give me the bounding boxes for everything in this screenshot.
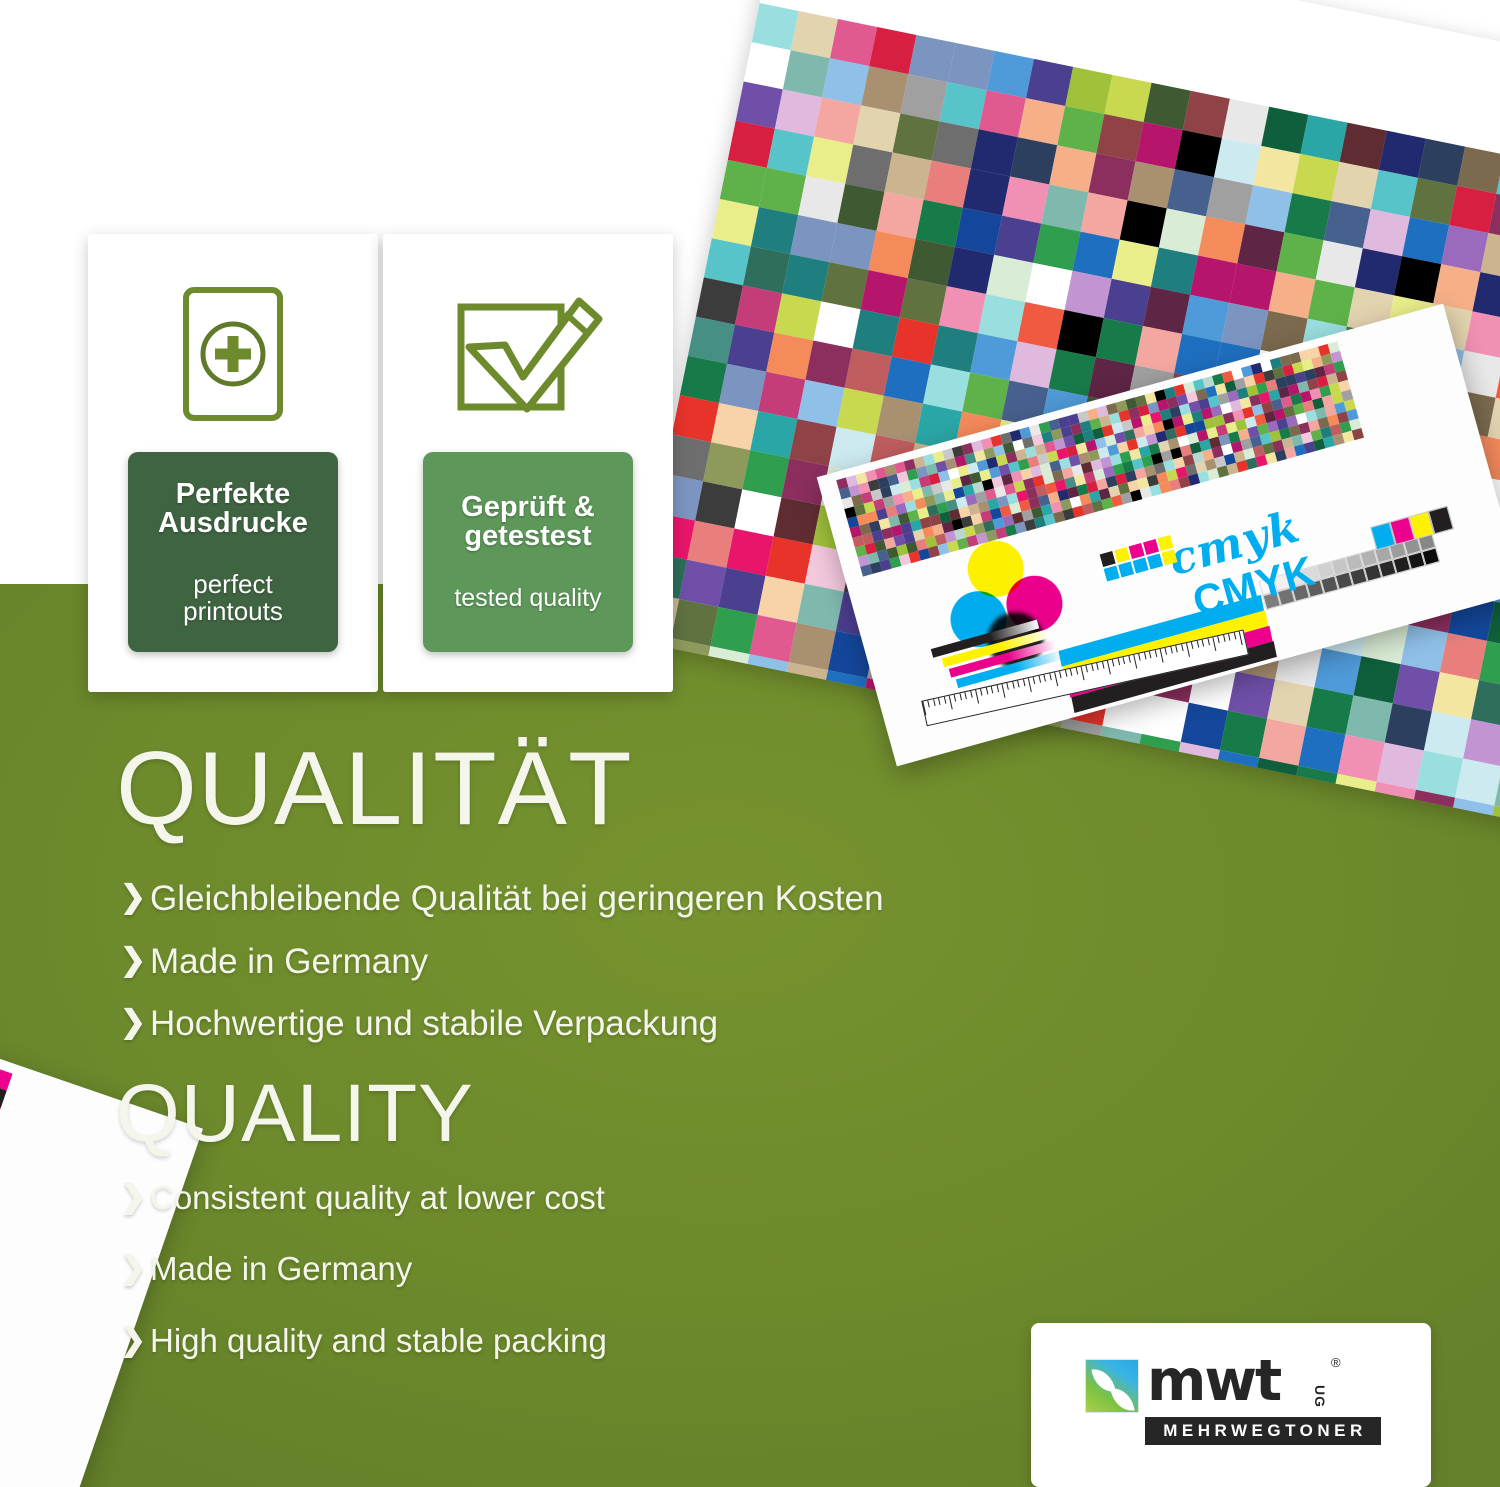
ruler-tick	[1170, 647, 1172, 654]
ruler-tick	[1028, 678, 1032, 692]
ruler-tick	[1128, 656, 1130, 663]
ruler-tick	[1054, 672, 1058, 686]
ruler-tick	[1044, 675, 1046, 682]
registration-patches	[1100, 535, 1178, 581]
chevron-right-icon: ❯	[120, 1251, 150, 1285]
card-1-sub-line2: printouts	[183, 596, 283, 626]
color-swatch	[1129, 543, 1145, 559]
ruler-tick	[970, 691, 972, 698]
ruler-tick	[1033, 677, 1035, 684]
leaf-shape-bottom	[1110, 1386, 1134, 1414]
logo-wordmark: mwt	[1147, 1353, 1280, 1410]
ruler-tick	[1212, 637, 1216, 651]
card-2-subtitle: tested quality	[448, 586, 607, 612]
card-2-title: Geprüft & getestest	[455, 493, 601, 552]
ruler-tick	[933, 699, 935, 706]
logo-inner: mwt ® UG MEHRWEGTONER	[1085, 1355, 1381, 1451]
card-2-tile: Geprüft & getestest tested quality	[423, 452, 633, 652]
chevron-right-icon: ❯	[120, 1180, 150, 1214]
ruler-tick	[1197, 641, 1199, 648]
card-1-title: Perfekte Ausdrucke	[152, 480, 314, 539]
bullet-list-english: ❯Consistent quality at lower cost❯Made i…	[120, 1180, 607, 1394]
ruler-tick	[1086, 665, 1088, 672]
ruler-tick	[1149, 651, 1151, 658]
ruler-tick	[1186, 643, 1190, 657]
bullet-text: Hochwertige und stabile Verpackung	[150, 1005, 718, 1044]
color-swatch	[1118, 561, 1134, 577]
ruler-tick	[949, 696, 953, 710]
ruler-tick	[938, 698, 940, 705]
ruler-tick	[1160, 649, 1164, 663]
bullet-item: ❯Hochwertige und stabile Verpackung	[120, 1005, 884, 1044]
ruler-tick	[1096, 663, 1098, 670]
ruler-tick	[1144, 652, 1146, 659]
card-1-tile: Perfekte Ausdrucke perfect printouts	[128, 452, 338, 652]
bullet-item: ❯Gleichbleibende Qualität bei geringeren…	[120, 880, 884, 919]
bullet-list-german: ❯Gleichbleibende Qualität bei geringeren…	[120, 880, 884, 1068]
color-swatch	[1352, 428, 1364, 440]
ruler-tick	[1233, 632, 1235, 639]
ruler-tick	[996, 685, 998, 692]
logo-company-bar: MEHRWEGTONER	[1145, 1417, 1381, 1445]
color-swatch	[1104, 565, 1120, 581]
bullet-text: Gleichbleibende Qualität bei geringeren …	[150, 880, 884, 919]
chevron-right-icon: ❯	[120, 1005, 150, 1039]
ruler-tick	[1202, 640, 1204, 647]
ruler-tick	[1133, 655, 1137, 669]
bullet-text: Made in Germany	[150, 943, 428, 982]
ruler-tick	[980, 689, 982, 696]
color-swatch	[1133, 557, 1149, 573]
page-plus-icon	[88, 280, 378, 428]
logo-company-name: MEHRWEGTONER	[1159, 1421, 1367, 1441]
ruler-tick	[1102, 662, 1104, 669]
ruler-tick	[954, 694, 956, 701]
color-swatch	[1143, 539, 1159, 555]
ruler-tick	[943, 697, 945, 704]
ruler-tick	[1218, 636, 1220, 643]
mwt-leaf-diamond-icon	[1085, 1359, 1139, 1413]
ruler-tick	[1023, 679, 1025, 686]
ruler-tick	[1191, 642, 1193, 649]
card-2-sub-line1: tested quality	[454, 584, 601, 612]
color-swatch	[1147, 553, 1163, 569]
headline-english: QUALITY	[116, 1073, 474, 1155]
ruler-tick	[928, 700, 930, 707]
card-1-title-line1: Perfekte	[176, 478, 290, 510]
ruler-tick	[986, 687, 988, 694]
ruler-tick	[1228, 634, 1230, 641]
bullet-item: ❯Consistent quality at lower cost	[120, 1180, 607, 1216]
ruler-tick	[1107, 661, 1111, 675]
card-1-subtitle: perfect printouts	[177, 571, 289, 624]
card-2-title-line2: getestest	[464, 520, 591, 552]
ruler-tick	[1075, 668, 1077, 675]
card-1-title-line2: Ausdrucke	[158, 507, 308, 539]
gray-step-patch	[1422, 547, 1440, 565]
ruler-tick	[1059, 671, 1061, 678]
ruler-tick	[1001, 684, 1005, 698]
registered-trademark-icon: ®	[1331, 1355, 1341, 1370]
ruler-tick	[991, 686, 993, 693]
ruler-tick	[1207, 638, 1209, 645]
bullet-item: ❯High quality and stable packing	[120, 1323, 607, 1359]
bullet-text: High quality and stable packing	[150, 1323, 607, 1359]
bullet-item: ❯Made in Germany	[120, 943, 884, 982]
ruler-tick	[1065, 670, 1067, 677]
feature-card-tested-quality[interactable]: Geprüft & getestest tested quality	[383, 234, 673, 692]
ruler-tick	[1070, 669, 1072, 676]
ruler-tick	[1112, 659, 1114, 666]
ruler-tick	[1123, 657, 1125, 664]
ruler-tick	[1091, 664, 1093, 671]
chevron-right-icon: ❯	[120, 1323, 150, 1357]
ruler-tick	[1038, 676, 1040, 683]
bullet-text: Made in Germany	[150, 1251, 412, 1287]
ruler-tick	[1017, 680, 1019, 687]
card-2-title-line1: Geprüft &	[461, 491, 595, 523]
checkbox-pencil-icon	[383, 280, 673, 428]
chevron-right-icon: ❯	[120, 943, 150, 977]
ruler-tick	[1165, 648, 1167, 655]
ruler-tick	[1007, 683, 1009, 690]
color-swatch	[1114, 547, 1130, 563]
ruler-tick	[1117, 658, 1119, 665]
ruler-tick	[965, 692, 967, 699]
ruler-tick	[1081, 666, 1085, 680]
feature-card-perfect-printouts[interactable]: Perfekte Ausdrucke perfect printouts	[88, 234, 378, 692]
bullet-item: ❯Made in Germany	[120, 1251, 607, 1287]
ruler-tick	[1239, 631, 1243, 645]
color-swatch	[0, 1068, 13, 1091]
logo-legal-form: UG	[1312, 1385, 1328, 1408]
ruler-tick	[922, 701, 926, 715]
card-1-sub-line1: perfect	[193, 569, 273, 599]
ruler-tick	[1049, 673, 1051, 680]
headline-german: QUALITÄT	[116, 737, 633, 841]
bullet-text: Consistent quality at lower cost	[150, 1180, 605, 1216]
brand-logo[interactable]: mwt ® UG MEHRWEGTONER	[1031, 1323, 1431, 1487]
ruler-tick	[1175, 645, 1177, 652]
ruler-tick	[1223, 635, 1225, 642]
ruler-tick	[1181, 644, 1183, 651]
secondary-sheet-color-blocks	[0, 1033, 13, 1227]
ruler-tick	[1012, 682, 1014, 689]
ruler-tick	[975, 690, 979, 704]
ruler-tick	[1154, 650, 1156, 657]
promo-banner: cmyk CMYK Perfekte Ausdrucke perfect pri…	[0, 0, 1500, 1487]
ruler-tick	[959, 693, 961, 700]
chevron-right-icon: ❯	[120, 880, 150, 914]
ruler-tick	[1139, 654, 1141, 661]
color-swatch	[1100, 551, 1116, 567]
